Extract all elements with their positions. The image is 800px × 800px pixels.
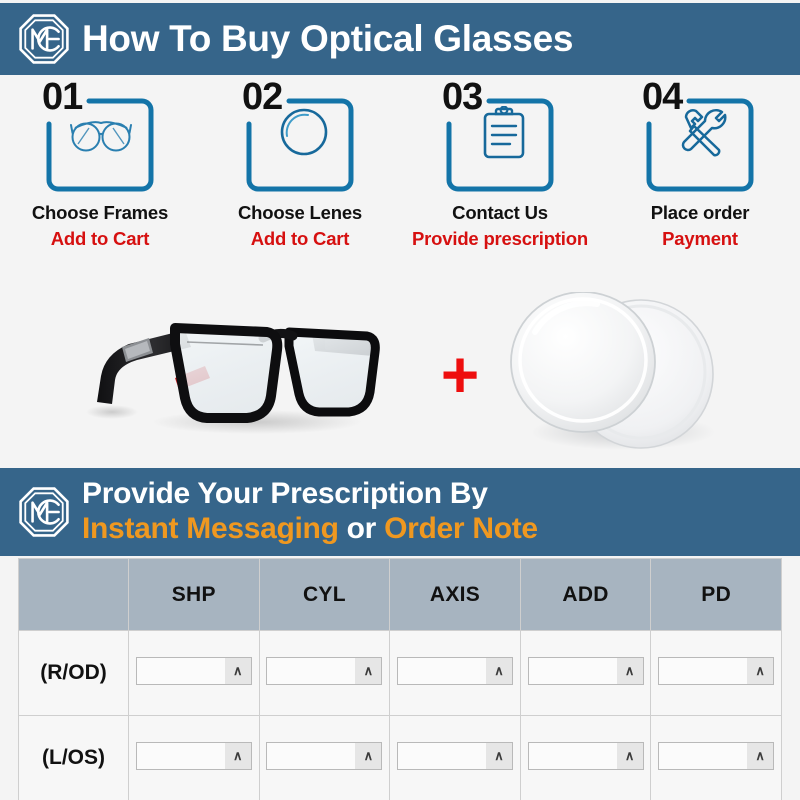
- cell-left-axis: ∧: [390, 716, 521, 800]
- spinner-input-right-shp[interactable]: [137, 658, 225, 684]
- chevron-up-icon[interactable]: ∧: [225, 743, 251, 769]
- infographic-page: How To Buy Optical Glasses 01 Choose F: [0, 0, 800, 800]
- header-banner: How To Buy Optical Glasses: [0, 3, 800, 75]
- step-03: 03 Contact Us Provide prescription: [400, 82, 600, 282]
- chevron-up-icon[interactable]: ∧: [355, 658, 381, 684]
- step-02-box: 02: [234, 82, 366, 194]
- step-01-sublabel: Add to Cart: [51, 228, 150, 250]
- prescription-line-1: Provide Your Prescription By: [82, 477, 538, 511]
- or-conjunction-text: or: [339, 512, 384, 545]
- hammer-wrench-icon: [677, 106, 731, 160]
- column-header-cyl: CYL: [259, 559, 390, 631]
- table-row: (R/OD) ∧ ∧ ∧: [19, 631, 782, 716]
- step-01: 01 Choose Frames Add to Cart: [0, 82, 200, 282]
- column-header-add: ADD: [520, 559, 651, 631]
- chevron-up-icon[interactable]: ∧: [486, 658, 512, 684]
- plus-icon: +: [441, 344, 480, 404]
- chevron-up-icon[interactable]: ∧: [355, 743, 381, 769]
- cell-right-axis: ∧: [390, 631, 521, 716]
- step-02-sublabel: Add to Cart: [251, 228, 350, 250]
- step-03-box: 03: [434, 82, 566, 194]
- spinner-right-add[interactable]: ∧: [528, 657, 644, 685]
- order-note-text: Order Note: [384, 512, 538, 545]
- product-row: +: [0, 288, 800, 460]
- spinner-input-left-cyl[interactable]: [267, 743, 355, 769]
- row-label-right-eye: (R/OD): [19, 631, 129, 716]
- lenses-product-image: [493, 292, 733, 457]
- steps-row: 01 Choose Frames Add to Cart 02: [0, 82, 800, 282]
- cell-left-pd: ∧: [651, 716, 782, 800]
- table-corner-cell: [19, 559, 129, 631]
- row-label-left-eye: (L/OS): [19, 716, 129, 800]
- spinner-left-add[interactable]: ∧: [528, 742, 644, 770]
- cell-left-shp: ∧: [129, 716, 260, 800]
- table-row: (L/OS) ∧ ∧ ∧: [19, 716, 782, 800]
- cell-left-add: ∧: [520, 716, 651, 800]
- spinner-right-shp[interactable]: ∧: [136, 657, 252, 685]
- spinner-input-left-axis[interactable]: [398, 743, 486, 769]
- spinner-left-shp[interactable]: ∧: [136, 742, 252, 770]
- step-04-number: 04: [640, 78, 684, 116]
- frames-product-image: [67, 294, 427, 454]
- prescription-line-2: Instant Messaging or Order Note: [82, 511, 538, 547]
- chevron-up-icon[interactable]: ∧: [617, 658, 643, 684]
- step-02-label: Choose Lenes: [238, 202, 362, 224]
- step-01-number: 01: [40, 78, 84, 116]
- step-01-box: 01: [34, 82, 166, 194]
- step-04: 04 Place order Payment: [600, 82, 800, 282]
- chevron-up-icon[interactable]: ∧: [486, 743, 512, 769]
- spinner-input-right-add[interactable]: [529, 658, 617, 684]
- spinner-right-pd[interactable]: ∧: [658, 657, 774, 685]
- spinner-right-axis[interactable]: ∧: [397, 657, 513, 685]
- cell-left-cyl: ∧: [259, 716, 390, 800]
- spinner-input-left-pd[interactable]: [659, 743, 747, 769]
- cell-right-shp: ∧: [129, 631, 260, 716]
- step-01-label: Choose Frames: [32, 202, 168, 224]
- chevron-up-icon[interactable]: ∧: [747, 658, 773, 684]
- chevron-up-icon[interactable]: ∧: [225, 658, 251, 684]
- eyeglasses-icon: [70, 116, 132, 156]
- spinner-input-left-add[interactable]: [529, 743, 617, 769]
- spinner-input-right-cyl[interactable]: [267, 658, 355, 684]
- cell-right-cyl: ∧: [259, 631, 390, 716]
- column-header-shp: SHP: [129, 559, 260, 631]
- column-header-axis: AXIS: [390, 559, 521, 631]
- spinner-input-left-shp[interactable]: [137, 743, 225, 769]
- me-octagon-logo-icon: [18, 486, 70, 538]
- page-title: How To Buy Optical Glasses: [82, 18, 573, 60]
- step-04-sublabel: Payment: [662, 228, 738, 250]
- instant-messaging-text: Instant Messaging: [82, 512, 339, 545]
- table-header-row: SHP CYL AXIS ADD PD: [19, 559, 782, 631]
- lens-circle-icon: [278, 106, 330, 158]
- step-04-label: Place order: [651, 202, 750, 224]
- chevron-up-icon[interactable]: ∧: [617, 743, 643, 769]
- spinner-left-axis[interactable]: ∧: [397, 742, 513, 770]
- step-03-sublabel: Provide prescription: [412, 228, 588, 250]
- cell-right-pd: ∧: [651, 631, 782, 716]
- prescription-banner-text: Provide Your Prescription By Instant Mes…: [82, 477, 538, 547]
- clipboard-icon: [481, 106, 527, 160]
- column-header-pd: PD: [651, 559, 782, 631]
- step-04-box: 04: [634, 82, 766, 194]
- step-03-number: 03: [440, 78, 484, 116]
- spinner-right-cyl[interactable]: ∧: [266, 657, 382, 685]
- step-03-label: Contact Us: [452, 202, 548, 224]
- spinner-input-right-axis[interactable]: [398, 658, 486, 684]
- table-header: SHP CYL AXIS ADD PD: [19, 559, 782, 631]
- spinner-left-pd[interactable]: ∧: [658, 742, 774, 770]
- table-body: (R/OD) ∧ ∧ ∧: [19, 631, 782, 800]
- step-02: 02 Choose Lenes Add to Cart: [200, 82, 400, 282]
- spinner-input-right-pd[interactable]: [659, 658, 747, 684]
- me-octagon-logo-icon: [18, 13, 70, 65]
- cell-right-add: ∧: [520, 631, 651, 716]
- chevron-up-icon[interactable]: ∧: [747, 743, 773, 769]
- prescription-table: SHP CYL AXIS ADD PD (R/OD) ∧: [18, 558, 782, 800]
- prescription-banner: Provide Your Prescription By Instant Mes…: [0, 468, 800, 556]
- spinner-left-cyl[interactable]: ∧: [266, 742, 382, 770]
- step-02-number: 02: [240, 78, 284, 116]
